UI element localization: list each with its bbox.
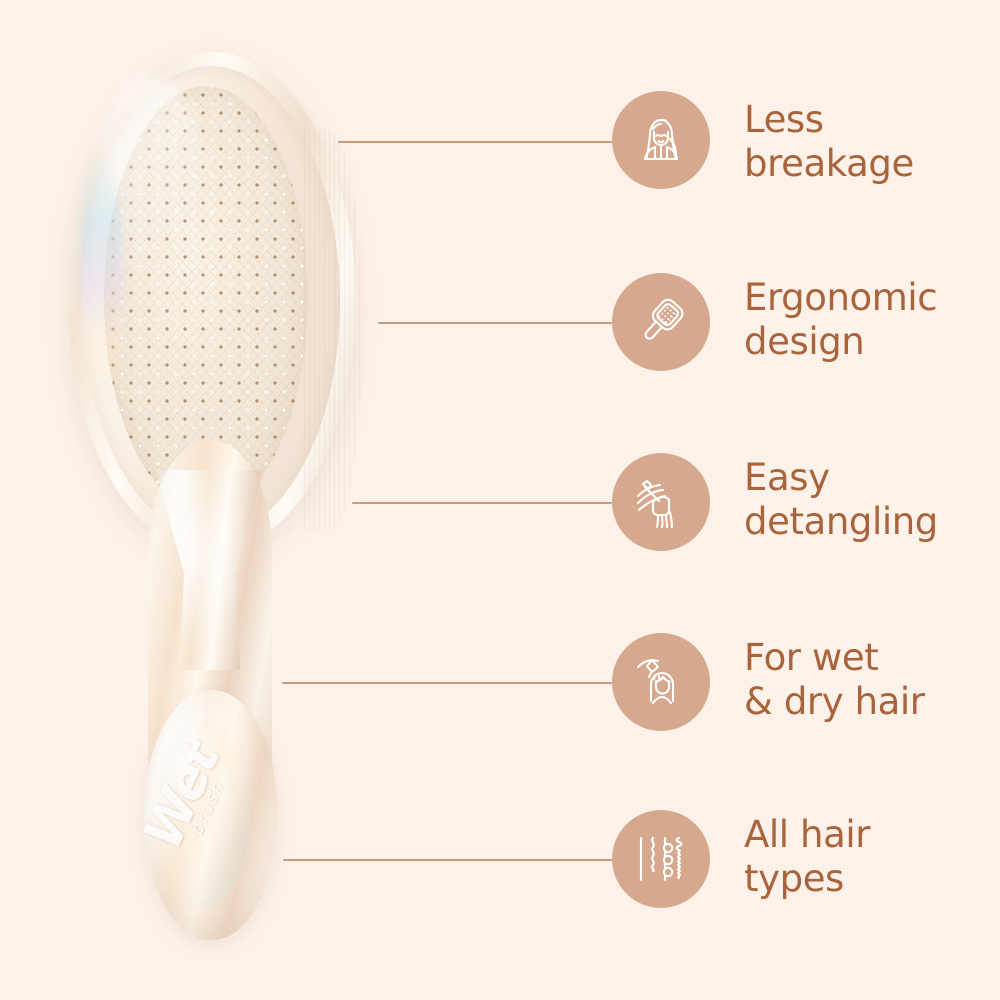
icon-circle-all-hair-types bbox=[612, 810, 710, 908]
connector-line-less-breakage bbox=[338, 141, 612, 143]
brush-head-iridescence bbox=[78, 150, 124, 410]
brush-side-bristles bbox=[300, 130, 362, 530]
icon-circle-ergonomic-design bbox=[612, 273, 710, 371]
feature-label-ergonomic-design: Ergonomic design bbox=[744, 276, 937, 363]
woman-long-hair-icon bbox=[630, 109, 692, 171]
shower-head-over-woman-icon bbox=[630, 651, 692, 713]
icon-circle-for-wet-and-dry-hair bbox=[612, 633, 710, 731]
icon-circle-less-breakage bbox=[612, 91, 710, 189]
connector-line-all-hair-types bbox=[283, 859, 612, 861]
product-photo-hair-brush: Wet brush bbox=[0, 0, 420, 1000]
icon-circle-easy-detangling bbox=[612, 453, 710, 551]
feature-label-all-hair-types: All hair types bbox=[744, 813, 870, 900]
feature-label-easy-detangling: Easy detangling bbox=[744, 456, 938, 543]
paddle-brush-icon bbox=[630, 291, 692, 353]
connector-line-ergonomic-design bbox=[378, 322, 612, 324]
infographic-canvas: Wet brush bbox=[0, 0, 1000, 1000]
connector-line-for-wet-and-dry-hair bbox=[282, 682, 612, 684]
brush-handle-iridescence bbox=[158, 720, 250, 910]
feature-label-for-wet-and-dry-hair: For wet & dry hair bbox=[744, 636, 925, 723]
hair-types-strands-icon bbox=[630, 828, 692, 890]
hand-holding-hair-icon bbox=[629, 470, 693, 534]
feature-label-less-breakage: Less breakage bbox=[744, 98, 914, 185]
connector-line-easy-detangling bbox=[352, 502, 612, 504]
